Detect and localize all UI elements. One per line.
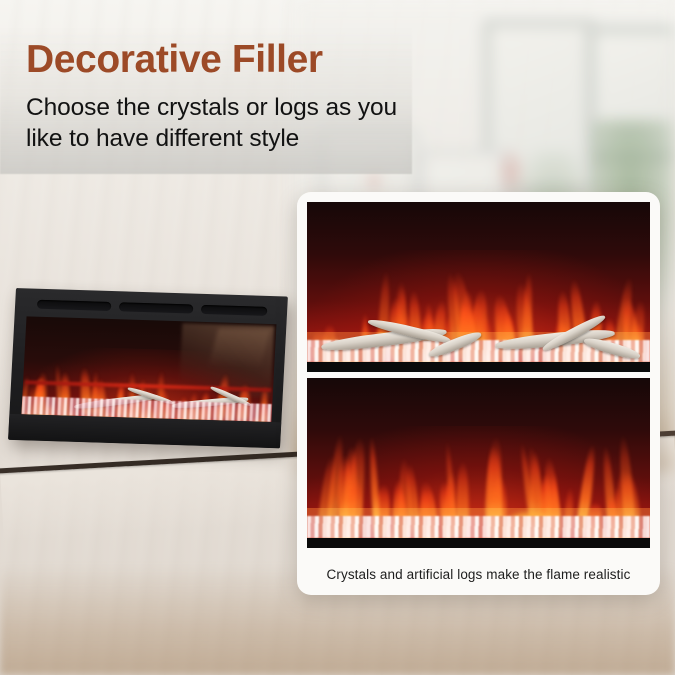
panel-flame-view <box>307 202 650 362</box>
page-subtitle: Choose the crystals or logs as you like … <box>26 92 426 155</box>
inset-caption: Crystals and artificial logs make the fl… <box>297 553 660 595</box>
page-title: Decorative Filler <box>26 40 323 79</box>
fireplace-base-bar <box>307 362 650 372</box>
crystal-glow <box>307 508 650 538</box>
vent-slot <box>37 300 111 311</box>
vent-slot <box>201 305 267 316</box>
red-accent-decor <box>498 146 524 198</box>
flame-closeup-with-logs <box>307 202 650 372</box>
vent-slot <box>119 302 193 313</box>
panel-flame-view <box>307 378 650 538</box>
wall-mounted-electric-fireplace <box>8 288 288 448</box>
fireplace-base-bar <box>307 538 650 548</box>
flame-closeup-crystals-only <box>307 378 650 548</box>
product-feature-image: Decorative Filler Choose the crystals or… <box>0 0 675 675</box>
detail-inset-card: Crystals and artificial logs make the fl… <box>297 192 660 595</box>
fireplace-glass-panel <box>21 316 276 422</box>
